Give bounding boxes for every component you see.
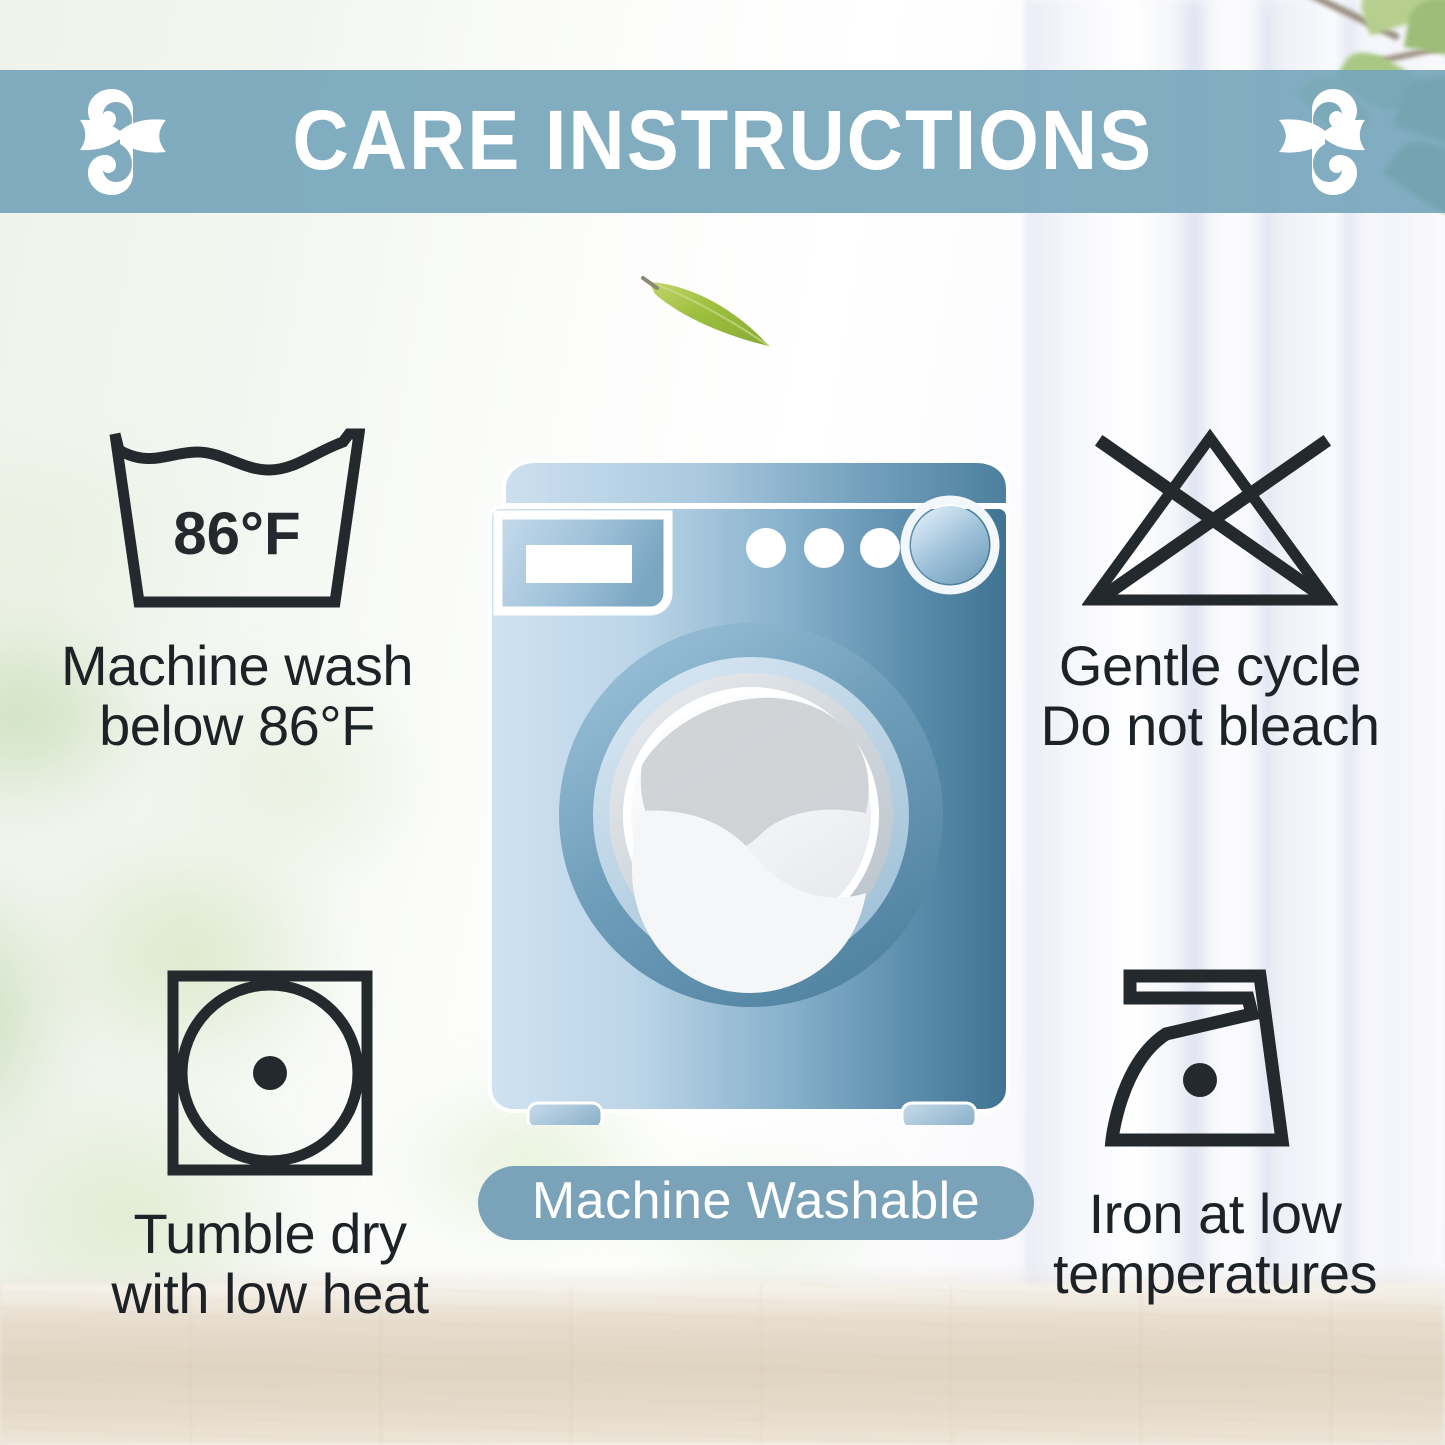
- wash-tub-icon: 86°F: [109, 428, 365, 610]
- control-dot-2: [804, 528, 844, 568]
- care-caption-machine-wash: Machine wash below 86°F: [61, 636, 413, 757]
- header-banner: CARE INSTRUCTIONS: [0, 70, 1445, 213]
- fleur-de-lis-right-icon: [1267, 87, 1395, 197]
- iron-one-dot-icon: [1100, 968, 1330, 1158]
- drawer-slot: [526, 545, 632, 583]
- washer-door: [559, 623, 943, 1007]
- page-title: CARE INSTRUCTIONS: [292, 98, 1153, 186]
- triangle-crossed-icon: [1082, 428, 1338, 610]
- care-symbol-do-not-bleach: Gentle cycle Do not bleach: [995, 428, 1425, 757]
- washing-machine-illustration: [484, 455, 1014, 1125]
- care-instructions-poster: CARE INSTRUCTIONS 86°F Machine wash belo…: [0, 0, 1445, 1445]
- washer-control-dots: [746, 528, 900, 568]
- machine-washable-badge: Machine Washable: [478, 1166, 1034, 1240]
- washer-foot-right: [902, 1103, 976, 1125]
- falling-leaf-icon: [641, 276, 781, 350]
- washer-top-cap: [504, 461, 1008, 505]
- fleur-de-lis-left-icon: [50, 87, 178, 197]
- care-symbol-machine-wash: 86°F Machine wash below 86°F: [22, 428, 452, 757]
- care-caption-tumble-dry: Tumble dry with low heat: [111, 1204, 428, 1325]
- washer-knob[interactable]: [905, 500, 995, 590]
- wash-temperature-value: 86°F: [173, 500, 300, 567]
- control-dot-3: [860, 528, 900, 568]
- care-symbol-tumble-dry: Tumble dry with low heat: [55, 968, 485, 1325]
- control-dot-1: [746, 528, 786, 568]
- tumble-dry-one-dot-icon: [165, 968, 375, 1178]
- machine-washable-label: Machine Washable: [532, 1175, 980, 1231]
- care-caption-iron-low: Iron at low temperatures: [1053, 1184, 1377, 1305]
- care-symbol-iron-low: Iron at low temperatures: [1000, 968, 1430, 1305]
- washer-foot-left: [528, 1103, 602, 1125]
- washer-detergent-drawer: [498, 515, 668, 611]
- care-caption-do-not-bleach: Gentle cycle Do not bleach: [1040, 636, 1379, 757]
